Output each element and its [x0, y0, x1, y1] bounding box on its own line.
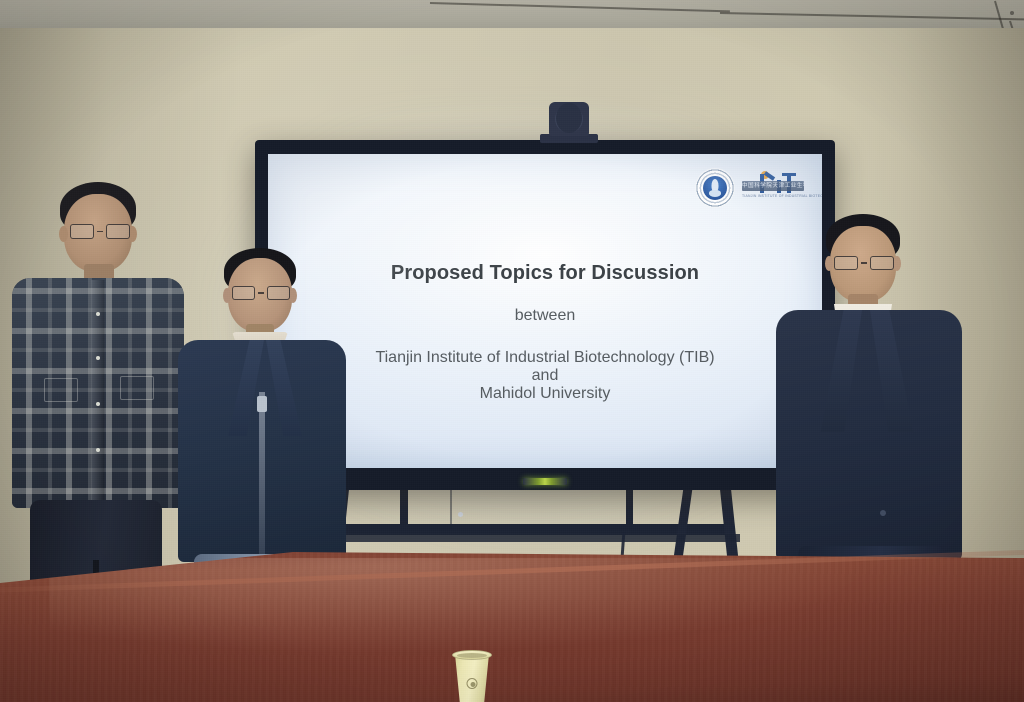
slide-connector: between	[268, 307, 822, 325]
person-center-glasses-icon	[232, 286, 290, 300]
person-center-ear	[223, 288, 231, 303]
cup-logo-icon	[467, 678, 478, 689]
person-right-jacket-button	[880, 510, 886, 516]
person-right-ear	[825, 256, 833, 271]
person-right-glasses-icon	[834, 256, 894, 270]
person-left-glasses-icon	[70, 224, 130, 239]
person-right-suit-jacket	[776, 310, 962, 560]
person-left-ear	[59, 226, 68, 242]
person-center-lapel	[266, 340, 302, 436]
person-center-zipper-line	[259, 392, 265, 560]
slide-org-line-1: Tianjin Institute of Industrial Biotechn…	[268, 349, 822, 367]
tib-logo-cn-text: 中国科学院天津工业生物技术研究所	[742, 181, 804, 191]
slide-logos: 中国科学院天津工业生物技术研究所 TIANJIN INSTITUTE OF IN…	[695, 168, 804, 208]
person-center-torso	[178, 340, 346, 562]
ptz-conference-camera	[540, 95, 598, 143]
presentation-slide: 中国科学院天津工业生物技术研究所 TIANJIN INSTITUTE OF IN…	[268, 154, 822, 468]
person-right-lapel	[870, 310, 916, 432]
person-right-lapel	[818, 310, 862, 432]
person-left-torso	[12, 278, 184, 508]
person-center-zipper-pull	[257, 396, 267, 412]
slide-title: Proposed Topics for Discussion	[268, 262, 822, 285]
person-center-ear	[289, 288, 297, 303]
slide-body: Proposed Topics for Discussion between T…	[268, 262, 822, 404]
camera-lens-icon	[556, 103, 582, 133]
meeting-room-photo: 中国科学院天津工业生物技术研究所 TIANJIN INSTITUTE OF IN…	[0, 0, 1024, 702]
conference-table	[0, 552, 1024, 702]
mahidol-university-seal-icon	[695, 168, 735, 208]
slide-org-line-2: Mahidol University	[268, 385, 822, 403]
display-screen[interactable]: 中国科学院天津工业生物技术研究所 TIANJIN INSTITUTE OF IN…	[268, 154, 822, 468]
tib-logo-en-text: TIANJIN INSTITUTE OF INDUSTRIAL BIOTECHN…	[742, 194, 804, 198]
slide-and: and	[268, 367, 822, 385]
cup-inner	[457, 653, 487, 658]
person-right-ear	[893, 256, 901, 271]
display-status-led	[523, 478, 567, 485]
paper-cup[interactable]	[452, 648, 492, 702]
tib-cas-logo-icon: 中国科学院天津工业生物技术研究所 TIANJIN INSTITUTE OF IN…	[742, 170, 804, 206]
